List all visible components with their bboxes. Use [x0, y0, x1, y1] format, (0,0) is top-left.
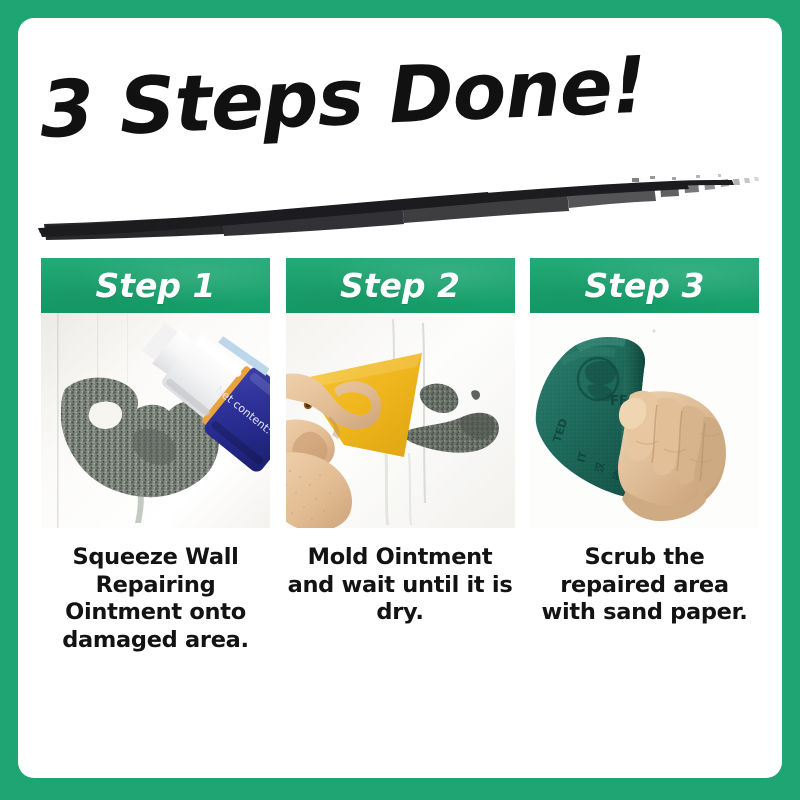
step-header-3: Step 3: [530, 258, 759, 313]
steps-row: Step 1: [41, 258, 759, 688]
step-photo-1: Net content: 250g: [41, 313, 270, 528]
step-header-1: Step 1: [41, 258, 270, 313]
step-column-1: Step 1: [41, 258, 270, 688]
scraper-hand-illustration: [286, 313, 515, 528]
squeeze-bottle-illustration: Net content: 250g: [41, 313, 270, 528]
title-area: 3 Steps Done!: [18, 62, 782, 247]
step-column-3: Step 3: [530, 258, 759, 688]
step-photo-3: FE TED IT 汉 砂: [530, 313, 759, 528]
sandpaper-hand-illustration: FE TED IT 汉 砂: [530, 313, 759, 528]
step-header-label-2: Step 2: [340, 266, 460, 305]
poster-inner-panel: 3 Steps Done!: [18, 18, 782, 778]
step-caption-3: Scrub the repaired area with sand paper.: [530, 544, 759, 627]
poster-root: 3 Steps Done!: [0, 0, 800, 800]
step-caption-2: Mold Ointment and wait until it is dry.: [286, 544, 515, 627]
step-header-label-1: Step 1: [96, 266, 216, 305]
step-caption-1: Squeeze Wall Repairing Ointment onto dam…: [41, 544, 270, 655]
brush-underline-icon: [32, 170, 768, 240]
step-column-2: Step 2: [286, 258, 515, 688]
step-photo-2: [286, 313, 515, 528]
page-title: 3 Steps Done!: [38, 42, 761, 150]
step-header-2: Step 2: [286, 258, 515, 313]
step-header-label-3: Step 3: [585, 266, 705, 305]
